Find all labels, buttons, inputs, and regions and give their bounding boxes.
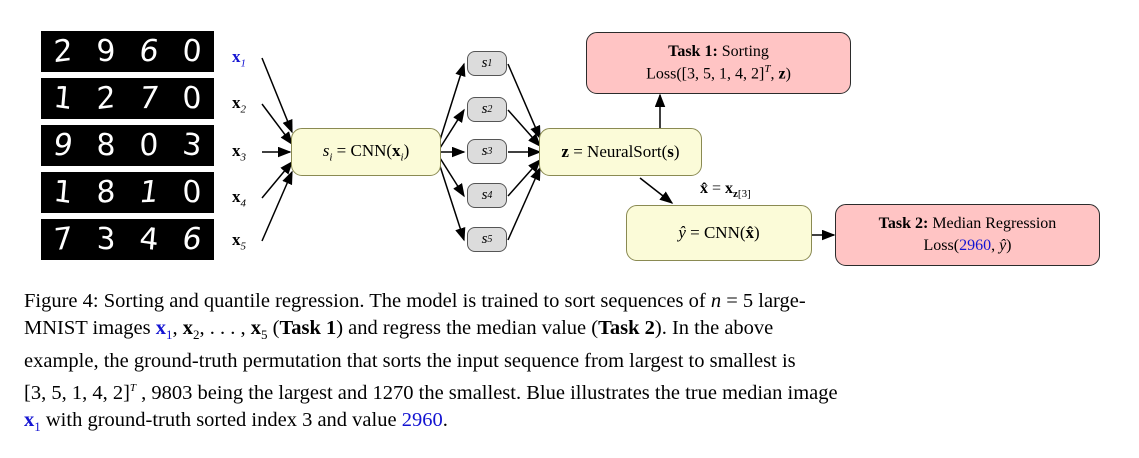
caption-line-5: x1 with ground-truth sorted index 3 and … xyxy=(24,407,1118,440)
caption-task2-ref: Task 2 xyxy=(598,317,655,339)
mnist-image-stack: 2 9 6 0 1 2 7 0 9 8 0 3 1 8 1 0 xyxy=(41,31,214,260)
mnist-digit: 0 xyxy=(172,176,212,210)
figure-page: 2 9 6 0 1 2 7 0 9 8 0 3 1 8 1 0 xyxy=(0,0,1139,458)
mnist-digit: 9 xyxy=(86,35,126,69)
mnist-digit: 3 xyxy=(86,223,126,257)
caption-line2-b: , xyxy=(172,317,182,339)
task1-loss-arg: z xyxy=(778,66,785,83)
task1-box: Task 1: Sorting Loss([3, 5, 1, 4, 2]T, z… xyxy=(586,32,851,94)
task2-loss: Loss(2960, ŷ) xyxy=(924,235,1012,257)
caption-line1-n: n xyxy=(711,290,721,312)
mnist-digit: 0 xyxy=(172,82,212,116)
cnn-score-arg: x xyxy=(392,141,401,160)
median-regression-close: ) xyxy=(754,223,760,242)
mnist-digit: 1 xyxy=(42,175,84,210)
neuralsort-box: z = NeuralSort(s) xyxy=(539,128,702,176)
caption-line-1: Figure 4: Sorting and quantile regressio… xyxy=(24,288,1118,315)
input-label-index: 3 xyxy=(241,151,247,163)
caption-line4-b: , 9803 being the largest and 1270 the sm… xyxy=(136,382,838,404)
figure-caption: Figure 4: Sorting and quantile regressio… xyxy=(24,288,1118,440)
mnist-digit: 2 xyxy=(86,81,126,116)
neuralsort-lhs: z xyxy=(561,142,569,161)
score-node-s5: s5 xyxy=(467,227,507,252)
mnist-digit: 8 xyxy=(86,175,126,210)
input-label-symbol: x xyxy=(232,47,241,66)
input-label-symbol: x xyxy=(232,187,241,206)
neuralsort-arg: s xyxy=(667,142,674,161)
cnn-score-close: ) xyxy=(404,141,410,160)
mnist-row: 1 8 1 0 xyxy=(41,172,214,213)
score-node-index: 5 xyxy=(487,234,492,245)
score-node-index: 4 xyxy=(487,190,492,201)
mnist-digit: 8 xyxy=(86,129,126,163)
mnist-row: 9 8 0 3 xyxy=(41,125,214,166)
median-regression-lhs: ŷ xyxy=(678,223,686,242)
task2-title: Task 2: Median Regression xyxy=(879,213,1057,235)
task1-loss-prefix: Loss([3, 5, 1, 4, 2] xyxy=(646,66,764,83)
xhat-annotation: x̂ = xz[3] xyxy=(700,180,751,200)
score-node-index: 1 xyxy=(487,58,492,69)
input-label-index: 1 xyxy=(241,57,247,69)
input-label-index: 5 xyxy=(241,240,247,252)
caption-line5-x: x xyxy=(24,409,34,431)
mnist-digit: 2 xyxy=(43,34,83,69)
task2-box: Task 2: Median Regression Loss(2960, ŷ) xyxy=(835,204,1100,266)
input-label-symbol: x xyxy=(232,93,241,112)
mnist-digit: 4 xyxy=(128,222,170,257)
cnn-score-rhs: = CNN( xyxy=(332,141,392,160)
mnist-row: 7 3 4 6 xyxy=(41,219,214,260)
task2-title-bold: Task 2: xyxy=(879,215,929,232)
mnist-digit: 9 xyxy=(41,130,85,162)
caption-line4-a: [3, 5, 1, 4, 2] xyxy=(24,382,130,404)
caption-line1-a: Figure 4: Sorting and quantile regressio… xyxy=(24,290,711,312)
mnist-digit: 1 xyxy=(127,177,171,209)
mnist-digit: 6 xyxy=(170,224,214,256)
input-label-x2: x2 xyxy=(232,93,246,115)
input-label-x5: x5 xyxy=(232,230,246,252)
caption-line1-b: = 5 large- xyxy=(721,290,806,312)
caption-line2-d: ( xyxy=(267,317,279,339)
task2-loss-value: 2960 xyxy=(959,237,991,254)
mnist-digit: 0 xyxy=(171,34,213,69)
cnn-score-box: si = CNN(xi) xyxy=(291,128,441,176)
mnist-digit: 3 xyxy=(171,128,213,163)
median-regression-arg: x̂ xyxy=(746,223,755,242)
xhat-lhs: x̂ xyxy=(700,180,708,197)
caption-line5-a: with ground-truth sorted index 3 and val… xyxy=(41,409,402,431)
mnist-row: 2 9 6 0 xyxy=(41,31,214,72)
median-regression-expression: ŷ = CNN(x̂) xyxy=(678,223,759,243)
task2-loss-close: ) xyxy=(1006,237,1011,254)
score-node-s3: s3 xyxy=(467,139,507,164)
xhat-rhs: x xyxy=(725,180,733,197)
input-label-x4: x4 xyxy=(232,187,246,209)
caption-line2-a: MNIST images xyxy=(24,317,156,339)
task2-loss-prefix: Loss( xyxy=(924,237,960,254)
caption-line-2: MNIST images x1, x2, . . . , x5 (Task 1)… xyxy=(24,315,1118,348)
task1-title: Task 1: Sorting xyxy=(668,41,769,63)
task1-title-bold: Task 1: xyxy=(668,43,718,60)
input-label-x1: x1 xyxy=(232,47,246,69)
input-label-symbol: x xyxy=(232,141,241,160)
caption-line5-value: 2960 xyxy=(402,409,443,431)
median-regression-rhs: = CNN( xyxy=(686,223,746,242)
score-node-s1: s1 xyxy=(467,51,507,76)
task1-loss-close: ) xyxy=(786,66,791,83)
cnn-score-expression: si = CNN(xi) xyxy=(323,141,410,163)
task1-loss: Loss([3, 5, 1, 4, 2]T, z) xyxy=(646,62,791,85)
input-label-index: 2 xyxy=(241,103,247,115)
caption-line-3: example, the ground-truth permutation th… xyxy=(24,348,1118,375)
score-node-s4: s4 xyxy=(467,183,507,208)
caption-task1-ref: Task 1 xyxy=(279,317,336,339)
xhat-equals: = xyxy=(708,180,725,197)
task1-title-rest: Sorting xyxy=(718,43,769,60)
score-node-s2: s2 xyxy=(467,97,507,122)
mnist-digit: 0 xyxy=(129,128,169,163)
caption-line2-c: , . . . , xyxy=(199,317,250,339)
task2-title-rest: Median Regression xyxy=(928,215,1056,232)
caption-line2-f: ). In the above xyxy=(655,317,773,339)
figure-diagram: 2 9 6 0 1 2 7 0 9 8 0 3 1 8 1 0 xyxy=(0,0,1139,283)
mnist-row: 1 2 7 0 xyxy=(41,78,214,119)
input-label-index: 4 xyxy=(241,197,247,209)
caption-x5: x xyxy=(251,317,261,339)
xhat-sub-index: [3] xyxy=(738,188,751,200)
score-node-index: 2 xyxy=(487,104,492,115)
median-regression-cnn-box: ŷ = CNN(x̂) xyxy=(626,205,812,261)
mnist-digit: 1 xyxy=(42,81,84,116)
mnist-digit: 7 xyxy=(127,83,171,115)
neuralsort-expression: z = NeuralSort(s) xyxy=(561,142,679,162)
neuralsort-close: ) xyxy=(674,142,680,161)
caption-x2: x xyxy=(183,317,193,339)
input-label-symbol: x xyxy=(232,230,241,249)
mnist-digit: 7 xyxy=(43,222,83,257)
mnist-digit: 6 xyxy=(127,36,171,68)
neuralsort-rhs: = NeuralSort( xyxy=(569,142,667,161)
caption-line5-b: . xyxy=(443,409,448,431)
caption-line2-e: ) and regress the median value ( xyxy=(336,317,598,339)
caption-x1: x xyxy=(156,317,166,339)
score-node-index: 3 xyxy=(487,146,492,157)
input-label-x3: x3 xyxy=(232,141,246,163)
caption-line-4: [3, 5, 1, 4, 2]T , 9803 being the larges… xyxy=(24,375,1118,407)
task2-loss-mid: , xyxy=(991,237,999,254)
